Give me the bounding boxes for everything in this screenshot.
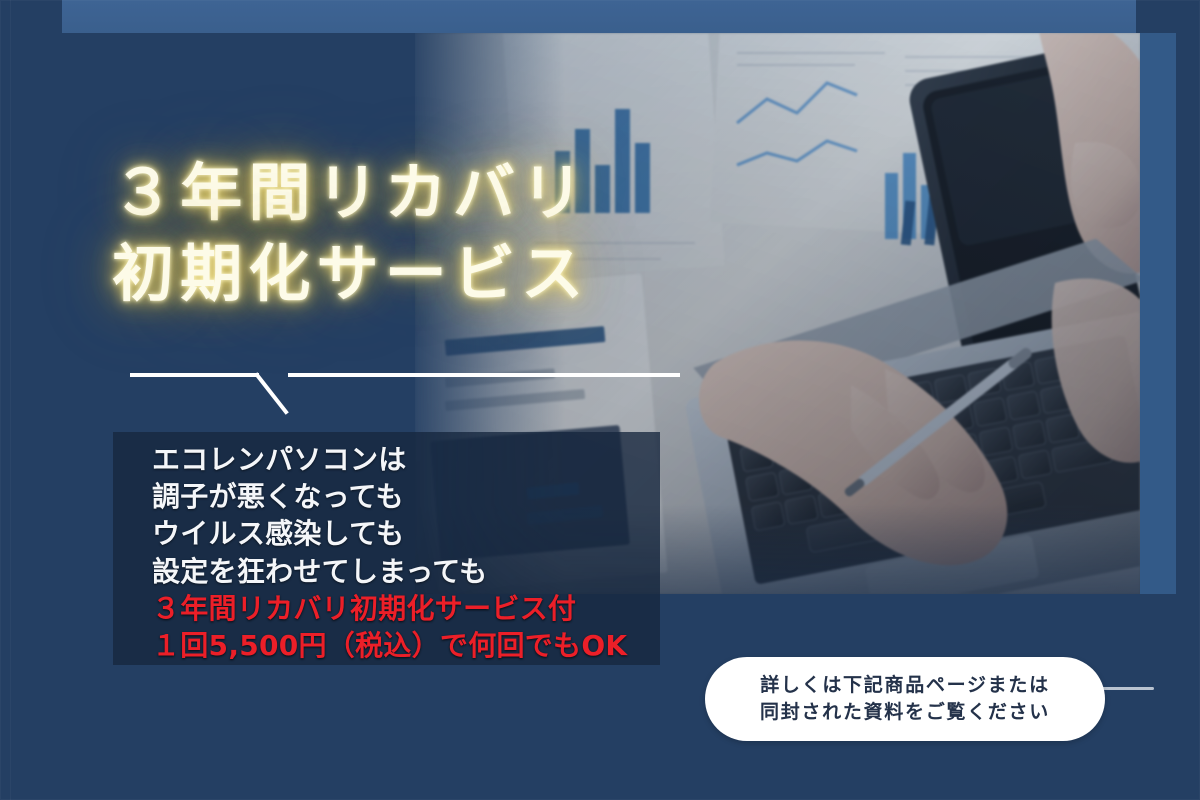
copy-text-block: エコレンパソコンは 調子が悪くなっても ウイルス感染しても 設定を狂わせてしまっ… [152,441,672,664]
left-hairline [10,0,11,800]
top-accent-band [62,0,1136,33]
copy-line-1: エコレンパソコンは [152,441,672,478]
copy-line-3: ウイルス感染しても [152,515,672,552]
copy-line-6-highlight: １回5,500円（税込）で何回でもOK [152,627,672,664]
copy-line-4: 設定を狂わせてしまっても [152,553,672,590]
poster-canvas: ３年間リカバリ 初期化サービス エコレンパソコンは 調子が悪くなっても ウイルス… [0,0,1200,800]
copy-line-5-highlight: ３年間リカバリ初期化サービス付 [152,590,672,627]
copy-line-2: 調子が悪くなっても [152,478,672,515]
divider-segment-diagonal [257,375,286,412]
callout-line-1: 詳しくは下記商品ページまたは [760,672,1050,699]
callout-pill[interactable]: 詳しくは下記商品ページまたは 同封された資料をご覧ください [705,657,1105,741]
right-accent-strip [1140,33,1176,594]
callout-line-2: 同封された資料をご覧ください [760,699,1050,726]
